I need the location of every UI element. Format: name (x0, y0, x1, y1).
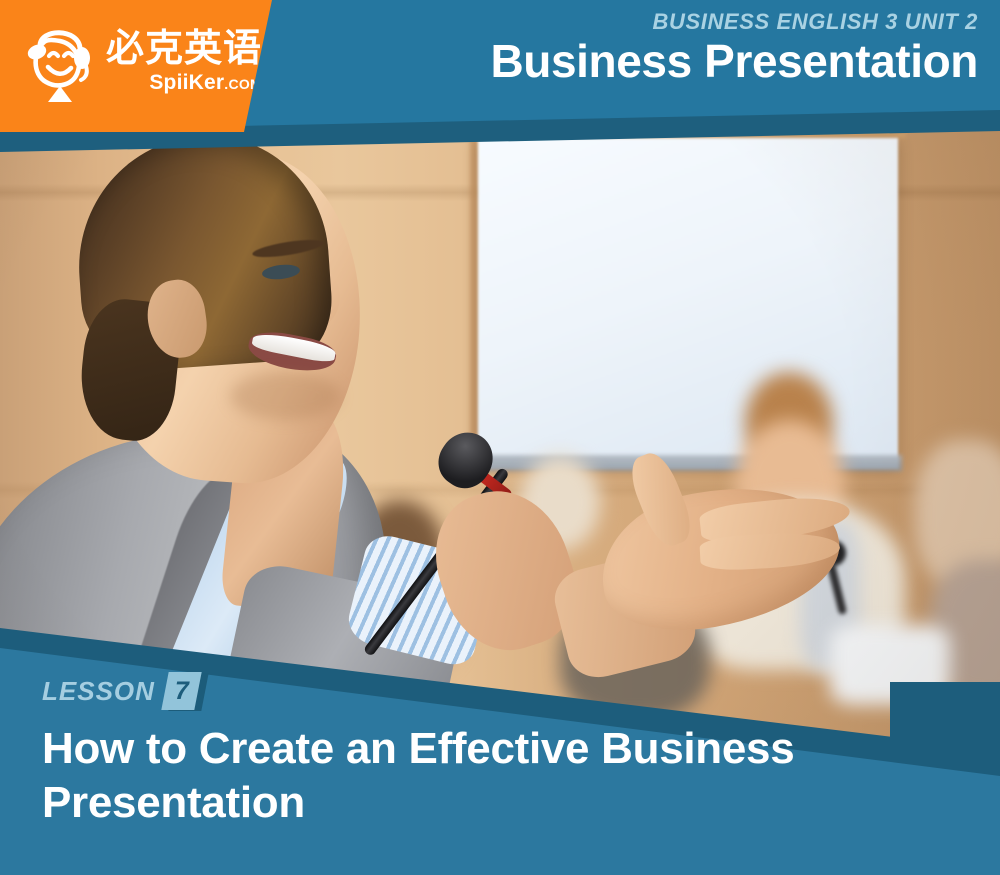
page-title: Business Presentation (490, 36, 978, 88)
brand-name-cn: 必克英语 (106, 29, 262, 67)
brand-name-en: SpiiKer.COM (106, 72, 262, 93)
course-unit-kicker: BUSINESS ENGLISH 3 UNIT 2 (490, 10, 978, 34)
lesson-info: LESSON 7 How to Create an Effective Busi… (42, 672, 942, 829)
lesson-number-badge: 7 (165, 672, 205, 710)
lesson-cover-card: BUSINESS ENGLISH 3 UNIT 2 Business Prese… (0, 0, 1000, 875)
header-title-group: BUSINESS ENGLISH 3 UNIT 2 Business Prese… (490, 10, 978, 88)
lesson-title: How to Create an Effective Business Pres… (42, 722, 902, 829)
lesson-label-row: LESSON 7 (42, 672, 942, 710)
brand-name-en-main: SpiiKer (149, 71, 224, 94)
smiling-face-with-headset-logo-icon (20, 16, 98, 106)
brand-wordmark: 必克英语 SpiiKer.COM (106, 29, 262, 93)
lesson-label: LESSON (42, 678, 155, 704)
chin-shading (230, 372, 340, 420)
brand-logo[interactable]: 必克英语 SpiiKer.COM (20, 16, 262, 106)
lesson-number: 7 (174, 679, 188, 704)
